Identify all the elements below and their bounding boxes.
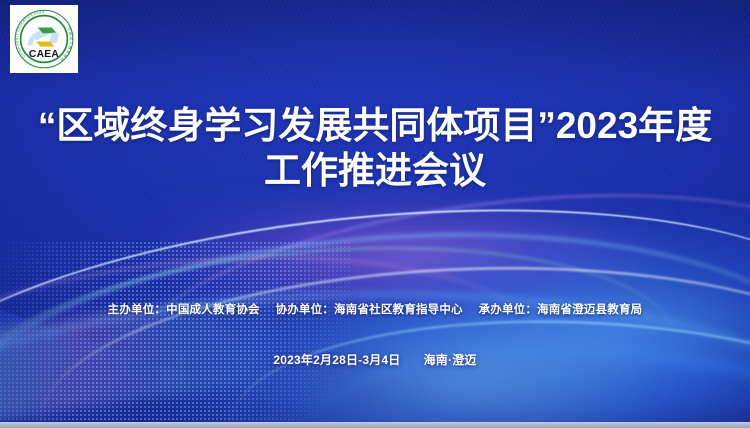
caea-logo: CHINA ADULT EDUCATION ASSOCIATION 中国成人教育… — [10, 5, 78, 73]
event-date-location: 2023年2月28日-3月4日 海南·澄迈 — [0, 351, 750, 368]
event-location: 海南·澄迈 — [424, 353, 477, 367]
cohost-label: 协办单位： — [276, 304, 335, 316]
host-value: 中国成人教育协会 — [166, 304, 260, 316]
organizer-credits: 主办单位：中国成人教育协会 协办单位：海南省社区教育指导中心 承办单位：海南省澄… — [0, 301, 750, 317]
organizer-label: 承办单位： — [479, 304, 538, 316]
conference-poster: CHINA ADULT EDUCATION ASSOCIATION 中国成人教育… — [0, 0, 750, 428]
poster-title: “区域终身学习发展共同体项目”2023年度 工作推进会议 — [0, 103, 750, 193]
event-date: 2023年2月28日-3月4日 — [273, 353, 400, 367]
cohost-value: 海南省社区教育指导中心 — [334, 304, 463, 316]
caea-logo-mark: CHINA ADULT EDUCATION ASSOCIATION 中国成人教育… — [12, 7, 76, 71]
host-label: 主办单位： — [108, 304, 167, 316]
title-line-1: “区域终身学习发展共同体项目”2023年度 — [0, 103, 750, 148]
svg-text:CAEA: CAEA — [29, 49, 60, 60]
light-ribbons-decoration — [0, 172, 750, 422]
title-line-2: 工作推进会议 — [0, 148, 750, 193]
organizer-value: 海南省澄迈县教育局 — [537, 304, 642, 316]
bottom-silver-bar — [0, 422, 750, 428]
halftone-dot-pattern — [0, 242, 350, 422]
